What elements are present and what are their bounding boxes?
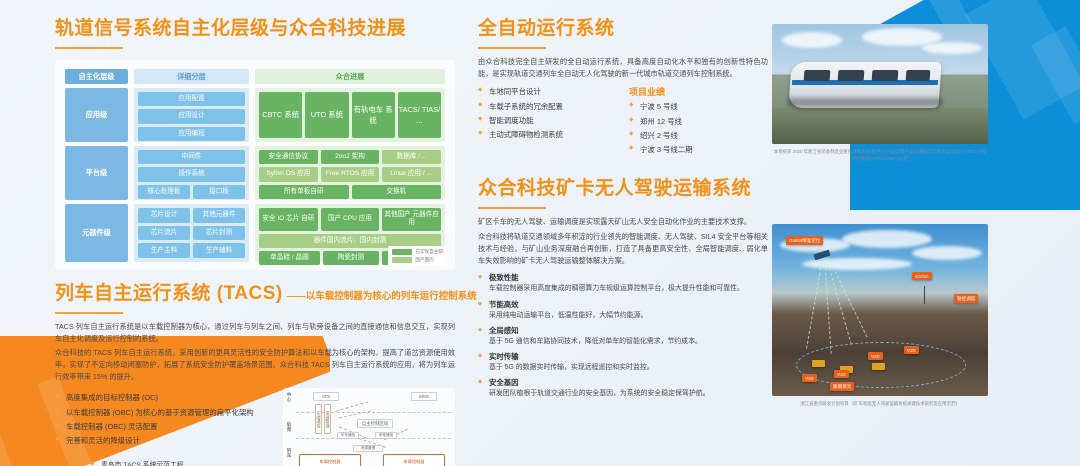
apply-item-0: 青岛市 TACS 系统示范工程 (90, 459, 273, 466)
photo-mine-caption: 浙江省重点研发计划项目 《矿车智能无人驾驶运输系统关键技术研究及应用示范》 (772, 401, 988, 408)
fao-feature-0: 车地同平台设计 (478, 85, 613, 99)
fao-rule (478, 47, 546, 49)
progress-comp-r1-2: 其他国产 元器件应用 (382, 208, 441, 230)
progress-system-0: CBTC 系统 (259, 92, 302, 138)
mining-paragraph-1: 众合科技将轨道交通领域多年积淀的行业领先的智能调度、无人驾驶、SIL4 安全平台… (478, 231, 768, 266)
photo-metro-caption: 本系统获 2020 年浙江省装备制造业重点领域首台(套)产品 内容自营产品(多重… (772, 149, 988, 163)
title-rule (55, 47, 123, 49)
label-roadside-unit: 路侧单元 (830, 382, 854, 391)
label-v2x-2: V2X (868, 352, 883, 360)
level-application: 应用级 (65, 88, 128, 142)
fao-feature-2: 智能调度功能 (478, 114, 613, 128)
mining-feature-2: 全局感知 基于 5G 通信和车路协同技术，降低对单车的智能化需求，节约成本。 (478, 325, 768, 347)
header-progress: 众合进展 (255, 69, 445, 84)
mining-feature-4: 安全基因 研发团队植根于轨道交通行业的安全基因，为系统的安全稳定保驾护航。 (478, 377, 768, 399)
arch-box-mss: MSS (411, 392, 437, 401)
label-dispatch: 管控调度 (954, 294, 978, 303)
mining-feature-3-title: 实时传输 (478, 351, 768, 362)
detail-app-1: 应用设计 (138, 109, 245, 123)
records-label: 项目业绩 (629, 85, 768, 98)
mining-feature-0: 极致性能 车载控制器采用高度集成的稠密算力车规级运算控制平台，极大提升性能和可靠… (478, 272, 768, 294)
autonomy-diagram: 自主化层级 详细分层 众合进展 应用级 应用配置 应用设计 应用编程 CBTC … (55, 60, 455, 270)
progress-comp-r1-1: 国产 CPU 应用 (321, 208, 380, 230)
section-header-fao: 全自动运行系统 (478, 18, 768, 49)
fao-title: 全自动运行系统 (478, 18, 768, 40)
fao-record-1: 郑州 12 号线 (629, 115, 768, 129)
progress-plat-r2-2: Linux 应用 / … (382, 167, 441, 181)
tacs-rule (55, 312, 123, 314)
arch-box-link-1: 车地通信 (375, 432, 397, 439)
mining-paragraph-0: 矿区卡车的无人驾驶、运输调度是实现露天矿山无人安全自动化作业的主要技术支撑。 (478, 216, 768, 228)
label-5g: 4G/5G (912, 272, 932, 280)
apply-label: 应用 (55, 457, 81, 466)
fao-feature-list: 车地同平台设计 车载子系统的冗余配置 智能调度功能 主动式障碍物检测系统 (478, 85, 613, 143)
mining-feature-4-desc: 研发团队植根于轨道交通行业的安全基因，为系统的安全稳定保驾护航。 (478, 388, 768, 399)
photo-metro-train (772, 24, 988, 144)
label-gnss: GNSS精准定位 (786, 236, 823, 245)
arch-train-right: 车载控制器 (383, 454, 445, 466)
detail-comp-1: 其他元器件 (193, 208, 245, 223)
header-detail: 详细分层 (134, 69, 249, 84)
tacs-feature-list: 高度集成的目标控制器 (OC) 以车载控制器 (OBC) 为核心的基于资源管理的… (55, 391, 273, 449)
progress-plat-r2-1: Free RTOS 应用 (321, 167, 380, 181)
mining-feature-2-desc: 基于 5G 通信和车路协同技术，降低对单车的智能化需求，节约成本。 (478, 336, 768, 347)
progress-plat-r3-0: 所有单板自研 (259, 185, 349, 199)
progress-plat-r1-0: 安全通信协议 (259, 150, 318, 164)
label-v2x-1: V2X (834, 370, 849, 378)
detail-comp-5: 生产辅料 (193, 243, 245, 258)
detail-comp-3: 芯片封测 (193, 226, 245, 241)
fao-feature-3: 主动式障碍物检测系统 (478, 128, 613, 142)
platform-ground (772, 108, 988, 144)
progress-comp-r1-0: 安全 IO 芯片 自研 (259, 208, 318, 230)
fao-record-0: 宁波 5 号线 (629, 100, 768, 114)
fao-records-list: 宁波 5 号线 郑州 12 号线 绍兴 2 号线 宁波 3 号线二期 (629, 100, 768, 158)
photo-mine-site: GNSS精准定位 4G/5G 管控调度 V2X V2X V2X V2X 路侧单元 (772, 224, 988, 396)
tacs-subtitle: ——以车载控制器为核心的列车运行控制系统 (287, 291, 477, 302)
mining-truck-0 (812, 360, 825, 367)
mining-rule (478, 207, 546, 209)
tacs-feature-3: 完善和灵活的降级设计 (55, 434, 273, 448)
detail-app-0: 应用配置 (138, 92, 245, 106)
apply-list: 青岛市 TACS 系统示范工程 成都市中车 2025 智慧型全自动行车试验平台试… (90, 459, 273, 466)
level-platform: 平台级 (65, 146, 128, 200)
tacs-paragraph-0: TACS 列车自主运行系统是以车载控制器为核心，通过列车与列车之间、列车与轨旁设… (55, 321, 455, 344)
mining-feature-1-title: 节能高效 (478, 299, 768, 310)
arch-box-zone: 自主控制区域 (357, 419, 393, 428)
progress-system-2: 有轨电车 系统 (352, 92, 395, 138)
arch-vbox-0: 车地通信 (315, 404, 322, 434)
progress-comp-r3-0: 单晶硅 / 晶圆 (259, 251, 320, 265)
arch-box-link-0: 车车通信 (337, 432, 359, 439)
mining-feature-4-title: 安全基因 (478, 377, 768, 388)
tacs-paragraph-1: 众合科技的 TACS 列车自主运行系统，采用创新的更具灵活性的安全防护算法和以车… (55, 347, 455, 382)
detail-comp-2: 芯片流片 (138, 226, 190, 241)
mining-feature-1: 节能高效 采用纯电动运输平台，低温性能好，大幅节约能源。 (478, 299, 768, 321)
section-header-tacs: 列车自主运行系统 (TACS)——以车载控制器为核心的列车运行控制系统 (55, 283, 455, 314)
progress-plat-r3-1: 交换机 (352, 185, 442, 199)
detail-comp-4: 生产主料 (138, 243, 190, 258)
legend-label-0: 已实现自主研 (415, 249, 443, 255)
fao-feature-1: 车载子系统的冗余配置 (478, 100, 613, 114)
fao-paragraph: 由众合科技完全自主研发的全自动运行系统，具备高度自动化水平和独有的创新性特色功能… (478, 56, 768, 79)
mining-feature-0-title: 极致性能 (478, 272, 768, 283)
detail-plat-3: 接口板 (193, 185, 245, 199)
progress-system-3: TACS/ TIAS/ … (398, 92, 441, 138)
tacs-feature-2: 车载控制器 (OBC) 灵活配置 (55, 420, 273, 434)
tacs-feature-0: 高度集成的目标控制器 (OC) (55, 391, 273, 405)
progress-plat-r2-0: Sylixn OS 应用 (259, 167, 318, 181)
autonomy-title: 轨道信号系统自主化层级与众合科技进展 (55, 18, 455, 40)
fao-record-3: 宁波 3 号线二期 (629, 143, 768, 157)
progress-plat-r1-2: 数据库 /… (382, 150, 441, 164)
mining-feature-3-desc: 基于 5G 的数据实时传输，实现远程遥控和实时监控。 (478, 362, 768, 373)
progress-plat-r1-1: 2oo2 架构 (321, 150, 380, 164)
tacs-title: 列车自主运行系统 (TACS)——以车载控制器为核心的列车运行控制系统 (55, 283, 455, 305)
arch-vbox-1: 资源管理 (324, 404, 331, 434)
fao-record-2: 绍兴 2 号线 (629, 129, 768, 143)
diagram-legend: 已实现自主研 国产国内 (388, 246, 447, 266)
detail-plat-2: 核心处理板 (138, 185, 190, 199)
detail-plat-1: 操作系统 (138, 167, 245, 181)
progress-system-1: UTO 系统 (305, 92, 348, 138)
arch-row-label-1: 轨旁 (286, 422, 292, 432)
detail-plat-0: 中间件 (138, 150, 245, 164)
arch-box-ats: ATS (313, 392, 339, 401)
level-component: 元器件级 (65, 204, 128, 262)
progress-comp-r3-1: 陶瓷封测 (323, 251, 379, 265)
tacs-arch-diagram: 中心 轨旁 列车 ATS MSS 自主控制区域 车地通信 资源管理 车车通信 车… (283, 388, 455, 466)
detail-app-2: 应用编程 (138, 127, 245, 141)
arch-box-link-2: 资源管理 (353, 445, 383, 452)
detail-comp-0: 芯片设计 (138, 208, 190, 223)
mining-feature-3: 实时传输 基于 5G 的数据实时传输，实现远程遥控和实时监控。 (478, 351, 768, 373)
label-v2x-0: V2X (802, 374, 817, 382)
mining-truck-2 (872, 363, 885, 370)
right-column: 全自动运行系统 由众合科技完全自主研发的全自动运行系统，具备高度自动化水平和独有… (478, 18, 768, 403)
comm-tower-icon (924, 286, 925, 304)
legend-label-1: 国产国内 (415, 257, 433, 263)
mining-feature-1-desc: 采用纯电动运输平台，低温性能好，大幅节约能源。 (478, 310, 768, 321)
arch-row-label-2: 列车 (286, 448, 292, 458)
arch-train-left: 车载控制器 (299, 454, 361, 466)
section-header-autonomy: 轨道信号系统自主化层级与众合科技进展 (55, 18, 455, 49)
header-level: 自主化层级 (65, 69, 128, 84)
section-header-mining: 众合科技矿卡无人驾驶运输系统 (478, 178, 768, 209)
tacs-feature-1: 以车载控制器 (OBC) 为核心的基于资源管理的扁平化架构 (55, 406, 273, 420)
left-column: 轨道信号系统自主化层级与众合科技进展 自主化层级 详细分层 众合进展 应用级 应… (55, 18, 455, 466)
mining-feature-list: 极致性能 车载控制器采用高度集成的稠密算力车规级运算控制平台，极大提升性能和可靠… (478, 272, 768, 399)
tacs-architecture-figure: 中心 轨旁 列车 ATS MSS 自主控制区域 车地通信 资源管理 车车通信 车… (283, 388, 455, 466)
arch-row-label-0: 中心 (286, 392, 292, 402)
mining-title: 众合科技矿卡无人驾驶运输系统 (478, 178, 768, 200)
label-v2x-3: V2X (904, 346, 919, 354)
mining-feature-2-title: 全局感知 (478, 325, 768, 336)
mining-feature-0-desc: 车载控制器采用高度集成的稠密算力车规级运算控制平台，极大提升性能和可靠性。 (478, 283, 768, 294)
